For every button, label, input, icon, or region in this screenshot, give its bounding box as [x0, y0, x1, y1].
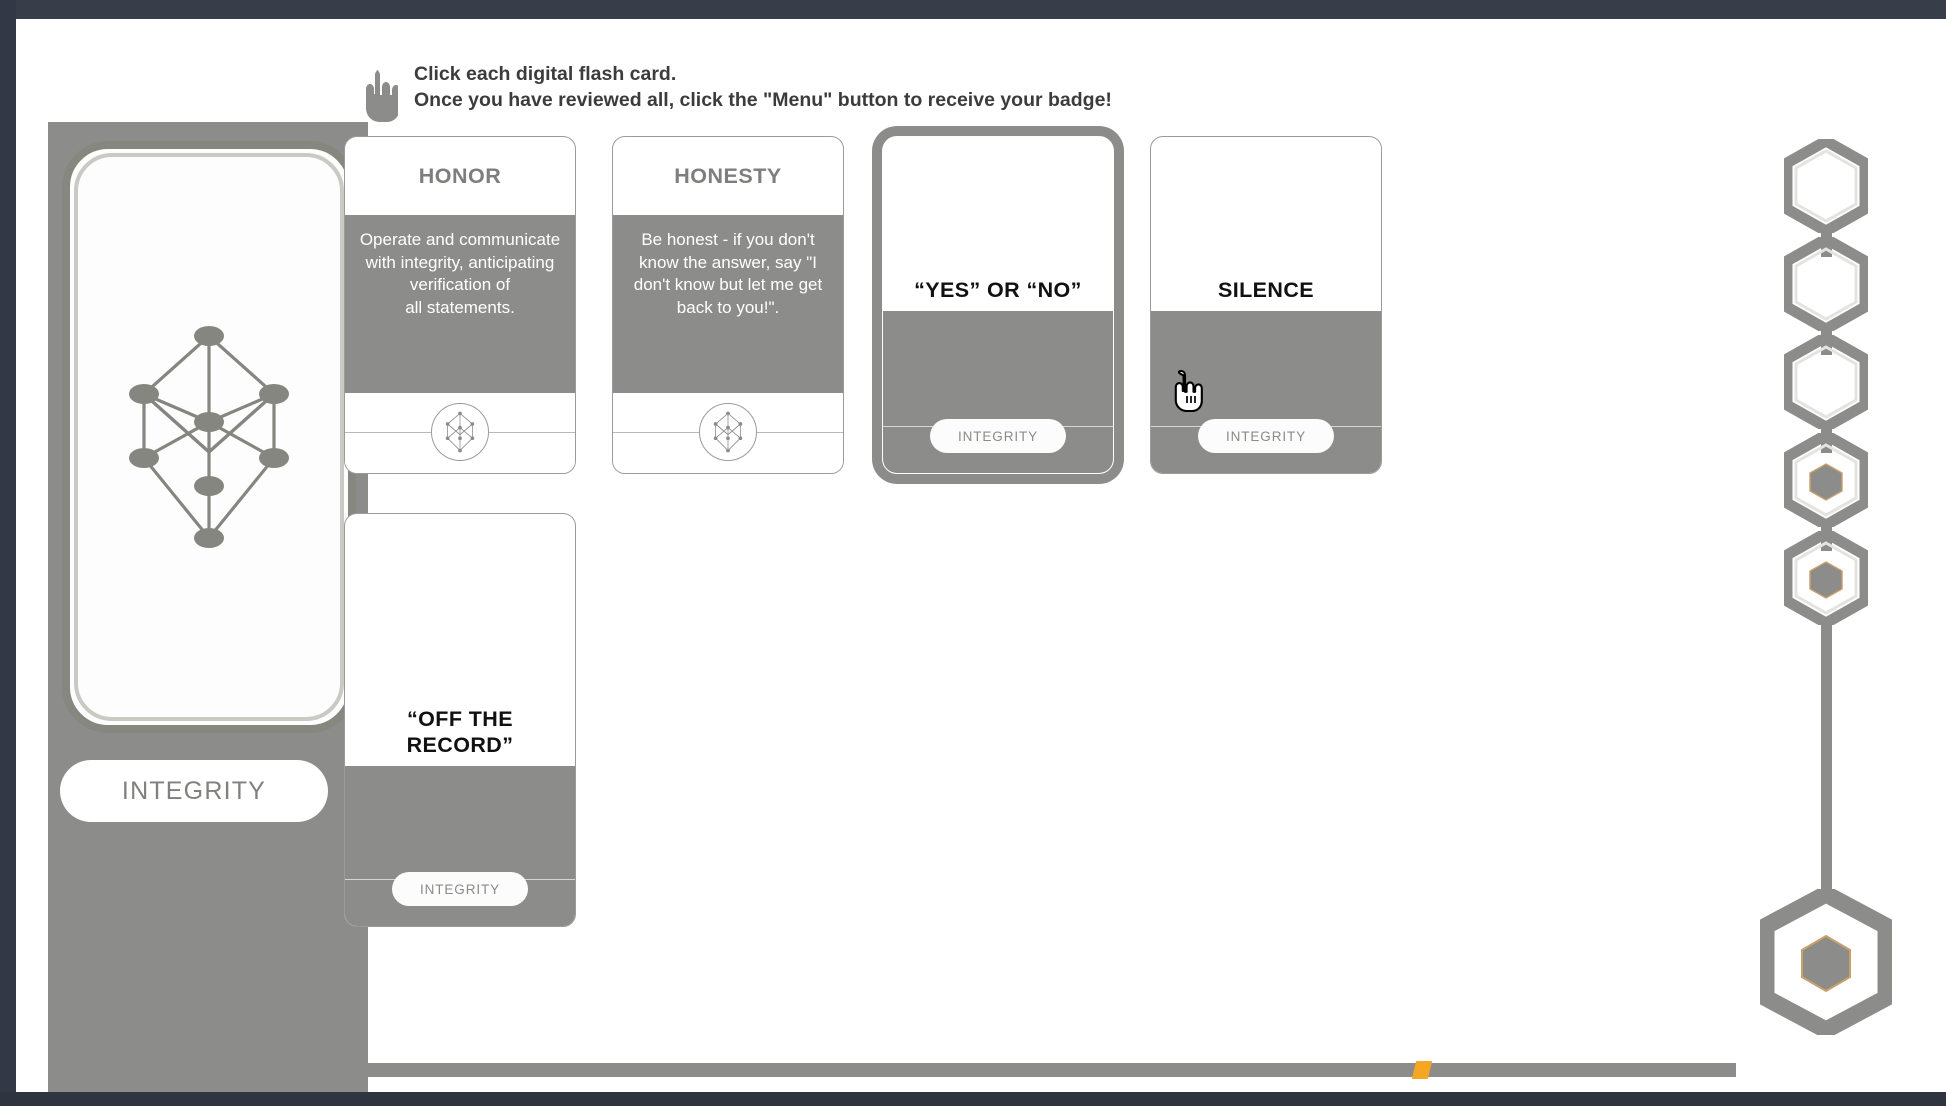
instruction-text: Click each digital flash card. Once you …: [414, 61, 1112, 113]
integrity-network-logo-icon: [122, 318, 296, 556]
card-category-label: INTEGRITY: [420, 882, 500, 897]
progress-node-3[interactable]: [1784, 335, 1868, 429]
badge-name-label: INTEGRITY: [122, 777, 266, 806]
title-line: RECORD”: [407, 733, 514, 757]
bottom-progress-bar: [326, 1063, 1736, 1077]
app-stage: INTEGRITY Click each digital flash card.…: [16, 19, 1946, 1092]
badge-sidebar: INTEGRITY: [48, 122, 368, 1092]
flash-card-off-the-record[interactable]: “OFF THE RECORD” INTEGRITY: [344, 513, 576, 927]
flash-card-silence[interactable]: SILENCE INTEGRITY: [1150, 136, 1382, 474]
badge-card[interactable]: [62, 141, 356, 733]
window-frame: INTEGRITY Click each digital flash card.…: [0, 0, 1946, 1106]
network-glyph: [440, 409, 480, 455]
body-line: back to you!".: [677, 298, 779, 317]
rail-connector: [1821, 623, 1832, 889]
body-line: know the answer, say "I: [639, 253, 817, 272]
body-line: all statements.: [405, 298, 515, 317]
body-line: with integrity, anticipating: [366, 253, 555, 272]
body-line: Be honest - if you don't: [641, 230, 814, 249]
instruction-line-2: Once you have reviewed all, click the "M…: [414, 87, 1112, 113]
badge-name-pill: INTEGRITY: [60, 760, 328, 822]
flash-card-title: “YES” OR “NO”: [883, 137, 1113, 307]
progress-node-5[interactable]: [1784, 531, 1868, 625]
window-titlebar: [0, 0, 1946, 19]
card-category-label: INTEGRITY: [958, 429, 1038, 444]
instruction-block: Click each digital flash card. Once you …: [362, 61, 1112, 125]
flash-card-body: Operate and communicate with integrity, …: [345, 215, 575, 393]
instruction-line-1: Click each digital flash card.: [414, 61, 1112, 87]
flash-card-title: HONESTY: [613, 137, 843, 215]
card-category-label: INTEGRITY: [1226, 429, 1306, 444]
card-category-pill: INTEGRITY: [392, 872, 528, 906]
window-left-edge: [0, 0, 16, 1106]
flash-card-back-panel: INTEGRITY: [345, 766, 575, 926]
progress-node-4[interactable]: [1784, 433, 1868, 527]
flash-card-yes-or-no[interactable]: “YES” OR “NO” INTEGRITY: [882, 136, 1114, 474]
flash-card-body: Be honest - if you don't know the answer…: [613, 215, 843, 393]
flash-card-honor[interactable]: HONOR Operate and communicate with integ…: [344, 136, 576, 474]
body-line: verification of: [410, 275, 510, 294]
network-glyph: [708, 409, 748, 455]
progress-node-2[interactable]: [1784, 237, 1868, 331]
body-line: Operate and communicate: [360, 230, 560, 249]
progress-rail: [1734, 139, 1946, 1079]
body-line: don't know but let me get: [634, 275, 822, 294]
window-bottom-edge: [0, 1092, 1946, 1106]
card-category-pill: INTEGRITY: [1198, 419, 1334, 453]
title-line: “OFF THE: [407, 707, 513, 731]
card-category-pill: INTEGRITY: [930, 419, 1066, 453]
progress-node-1[interactable]: [1784, 139, 1868, 233]
badge-card-inner: [74, 153, 344, 721]
flash-card-title: “OFF THE RECORD”: [345, 514, 575, 764]
flash-card-back-panel: INTEGRITY: [883, 311, 1113, 473]
flash-card-title: SILENCE: [1151, 137, 1381, 307]
flash-card-footer: [345, 393, 575, 473]
pointing-hand-icon: [362, 67, 398, 125]
flash-card-footer: [613, 393, 843, 473]
integrity-network-mark-icon: [699, 403, 757, 461]
flash-card-honesty[interactable]: HONESTY Be honest - if you don't know th…: [612, 136, 844, 474]
progress-goal-node[interactable]: [1760, 889, 1892, 1035]
flash-card-title: HONOR: [345, 137, 575, 215]
integrity-network-mark-icon: [431, 403, 489, 461]
hand-pointer-cursor: [1170, 369, 1204, 413]
